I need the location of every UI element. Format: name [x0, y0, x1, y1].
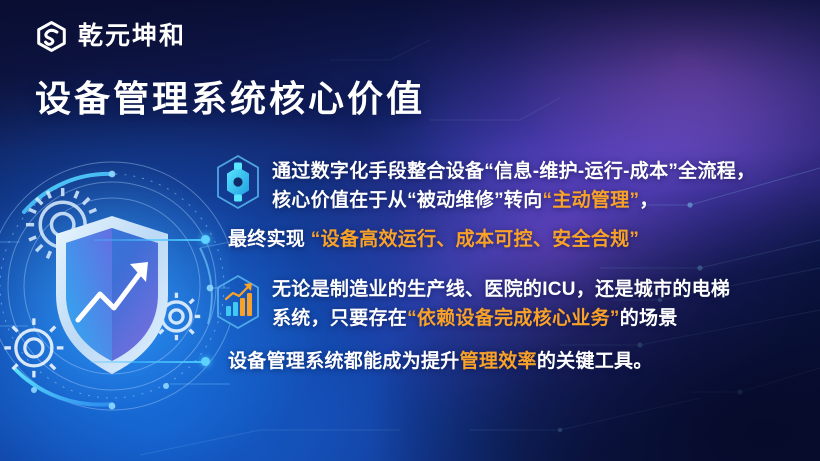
content-block-primary-text: 通过数字化手段整合设备“信息-维护-运行-成本”全流程， 核心价值在于从“被动维… [272, 152, 812, 215]
content-block-secondary-text: 无论是制造业的生产线、医院的ICU，还是城市的电梯 系统，只要存在“依赖设备完成… [272, 272, 812, 333]
highlight-text: “设备高效运行、成本可控、安全合规” [311, 229, 639, 250]
text-line: 核心价值在于从“被动维修”转向“主动管理”， [272, 186, 812, 215]
content-block-sub-1-text: 最终实现 “设备高效运行、成本可控、安全合规” [228, 225, 639, 254]
content-block-sub-2: 设备管理系统都能成为提升管理效率的关键工具。 [90, 347, 812, 376]
highlight-text: 管理效率 [460, 351, 537, 372]
text-line: 无论是制造业的生产线、医院的ICU，还是城市的电梯 [272, 275, 812, 304]
content-area: 通过数字化手段整合设备“信息-维护-运行-成本”全流程， 核心价值在于从“被动维… [212, 152, 812, 376]
connector-dot [201, 235, 210, 244]
connector-dot [201, 357, 210, 366]
shield-growth-arrow-illustration [0, 138, 230, 438]
content-block-sub-1: 最终实现 “设备高效运行、成本可控、安全合规” [94, 225, 812, 254]
highlight-text: “主动管理” [543, 190, 640, 211]
connector-line [94, 235, 210, 244]
highlight-text: “依赖设备完成核心业务” [407, 308, 620, 329]
content-block-secondary: 无论是制造业的生产线、医院的ICU，还是城市的电梯 系统，只要存在“依赖设备完成… [212, 272, 812, 333]
page-title: 设备管理系统核心价值 [35, 70, 425, 122]
connector-line-stroke [94, 239, 202, 241]
brand-name: 乾元坤和 [78, 21, 186, 52]
connector-line [90, 357, 210, 366]
hexagon-s-logo-icon [36, 21, 67, 52]
text-line: 系统，只要存在“依赖设备完成核心业务”的场景 [272, 304, 812, 333]
content-block-sub-2-text: 设备管理系统都能成为提升管理效率的关键工具。 [228, 347, 653, 376]
hex-bar-chart-arrow-icon [212, 274, 264, 330]
hex-bolt-nut-icon [212, 154, 264, 210]
text-line: 通过数字化手段整合设备“信息-维护-运行-成本”全流程， [272, 157, 812, 186]
content-block-primary: 通过数字化手段整合设备“信息-维护-运行-成本”全流程， 核心价值在于从“被动维… [212, 152, 812, 215]
brand-logo: 乾元坤和 [36, 21, 186, 52]
connector-line-stroke [90, 361, 202, 363]
slide-canvas: 乾元坤和 设备管理系统核心价值 [0, 0, 820, 461]
